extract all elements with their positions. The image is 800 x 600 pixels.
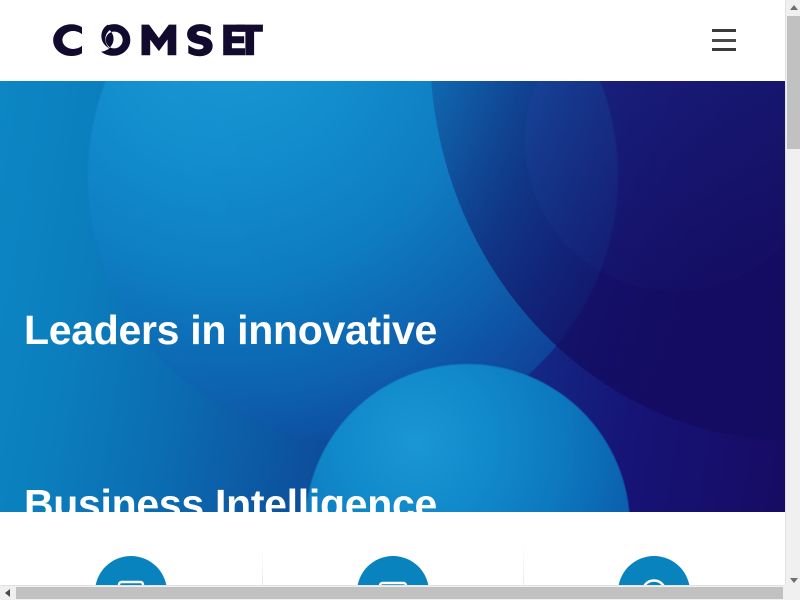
vertical-scrollbar-thumb[interactable] (787, 16, 800, 149)
feature-item-3[interactable] (523, 512, 785, 588)
comset-logo-icon (51, 23, 263, 57)
vertical-scrollbar[interactable] (785, 0, 800, 588)
scroll-up-arrow-icon[interactable] (786, 0, 800, 15)
web-page: Leaders in innovative Business Intellige… (0, 0, 785, 588)
hero-heading: Leaders in innovative Business Intellige… (24, 185, 438, 512)
monitor-screen-icon (95, 556, 167, 588)
browser-viewport: Leaders in innovative Business Intellige… (0, 0, 800, 600)
speedometer-gauge-icon (618, 556, 690, 588)
feature-divider-2 (523, 545, 524, 588)
feature-divider-1 (262, 545, 263, 588)
hero-banner: Leaders in innovative Business Intellige… (0, 81, 785, 512)
scroll-left-arrow-icon[interactable] (0, 586, 15, 600)
feature-item-2[interactable] (262, 512, 524, 588)
feature-item-1[interactable] (0, 512, 262, 588)
hamburger-bar-2 (712, 39, 736, 42)
site-header (0, 0, 785, 81)
hero-heading-line-1: Leaders in innovative (24, 301, 438, 359)
horizontal-scrollbar[interactable] (0, 585, 800, 600)
hero-heading-line-2: Business Intelligence (24, 475, 438, 512)
hamburger-bar-1 (712, 29, 736, 32)
dashboard-window-icon (357, 556, 429, 588)
scrollbar-corner (785, 585, 800, 600)
hamburger-menu-icon[interactable] (712, 29, 736, 51)
hamburger-bar-3 (712, 48, 736, 51)
hero-content: Leaders in innovative Business Intellige… (24, 185, 438, 512)
features-section (0, 512, 785, 588)
horizontal-scrollbar-thumb[interactable] (16, 587, 783, 599)
comset-logo[interactable] (51, 22, 263, 58)
